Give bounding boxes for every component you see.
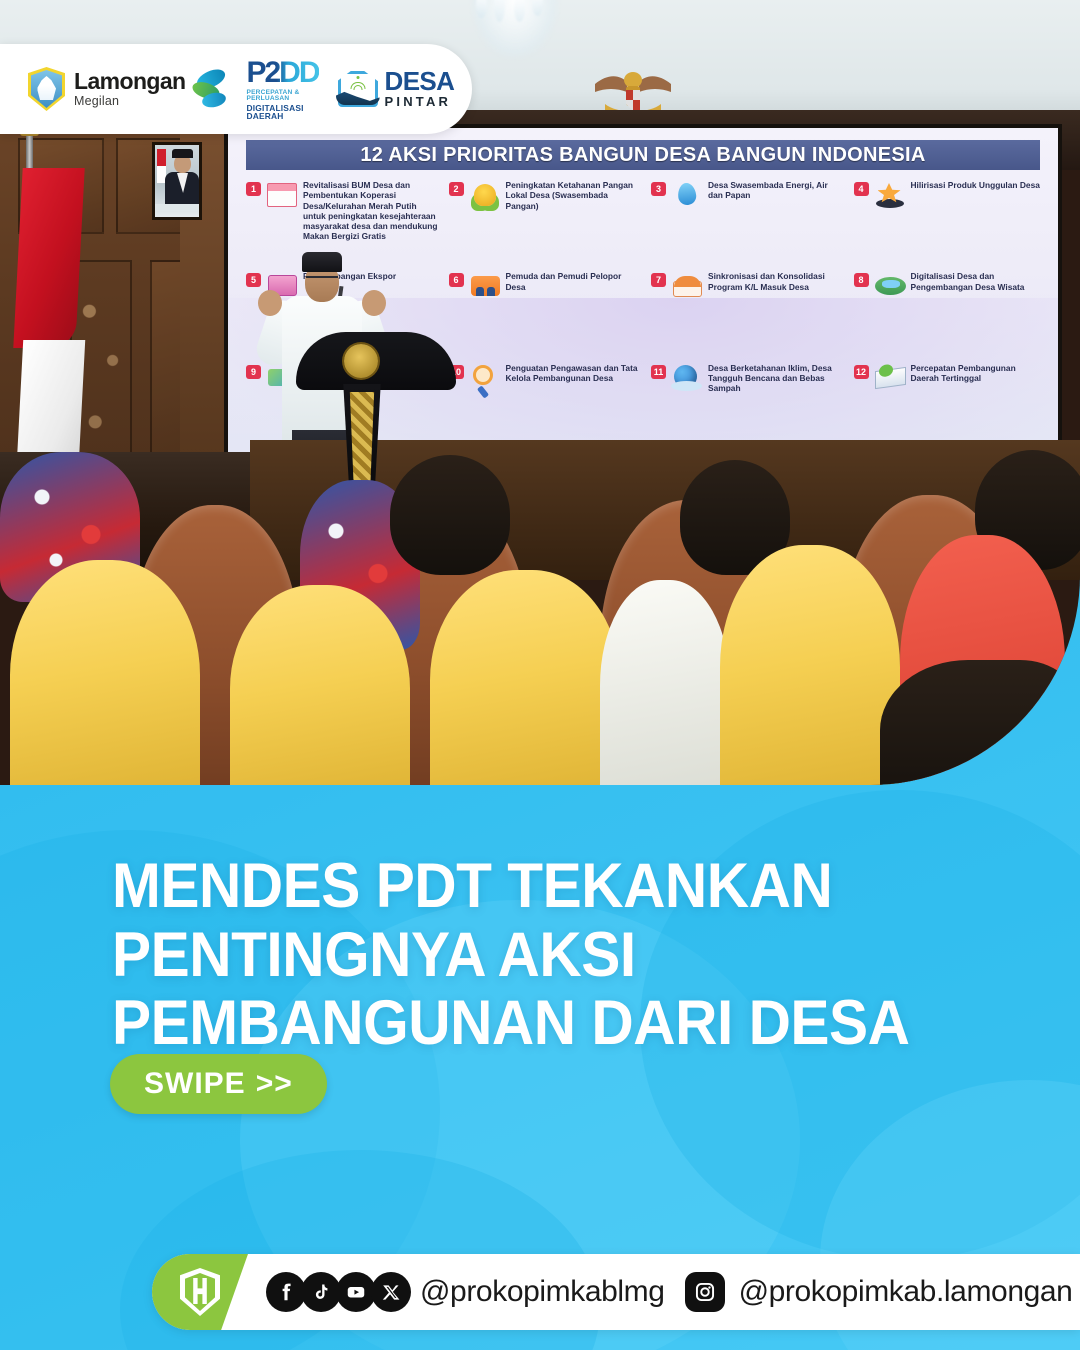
- audience-head: [390, 455, 510, 575]
- slide-action-item: 8 Digitalisasi Desa dan Pengembangan Des…: [850, 269, 1049, 358]
- action-number: 3: [651, 182, 666, 196]
- action-number: 1: [246, 182, 261, 196]
- headline-line-3: PEMBANGUNAN DARI DESA: [112, 989, 903, 1058]
- p2dd-acronym: P2DD: [246, 58, 318, 88]
- slide-title: 12 AKSI PRIORITAS BANGUN DESA BANGUN IND…: [246, 140, 1040, 170]
- youtube-icon[interactable]: [336, 1272, 376, 1312]
- desa-pintar-line1: DESA: [385, 66, 455, 96]
- indonesian-flag-red: [13, 168, 84, 348]
- action-text: Penguatan Pengawasan dan Tata Kelola Pem…: [506, 363, 642, 384]
- lamongan-logo: Lamongan Megilan: [28, 67, 230, 111]
- headline-line-1: MENDES PDT TEKANKAN: [112, 852, 903, 921]
- slide-action-item: 11 Desa Berketahanan Iklim, Desa Tangguh…: [647, 361, 846, 450]
- audience-head: [880, 660, 1080, 785]
- action-number: 2: [449, 182, 464, 196]
- lamongan-shield-icon: [28, 67, 65, 111]
- lake-village-icon: [873, 271, 907, 301]
- p2dd-subtitle-line1: PERCEPATAN & PERLUASAN: [246, 90, 318, 103]
- desa-pintar-line2: PINTAR: [385, 94, 452, 109]
- action-number: 8: [854, 273, 869, 287]
- audience-hijab: [600, 580, 730, 785]
- audience-hijab: [10, 560, 200, 785]
- audience-hijab: [230, 585, 410, 785]
- action-text: Digitalisasi Desa dan Pengembangan Desa …: [911, 271, 1047, 292]
- slide-action-item: 6 Pemuda dan Pemudi Pelopor Desa: [445, 269, 644, 358]
- action-text: Hilirisasi Produk Unggulan Desa: [911, 180, 1040, 190]
- swipe-label: SWIPE: [144, 1067, 246, 1101]
- chandelier-icon: [470, 0, 560, 60]
- slide-action-item: 1 Revitalisasi BUM Desa dan Pembentukan …: [242, 178, 441, 267]
- slide-action-item: 3 Desa Swasembada Energi, Air dan Papan: [647, 178, 846, 267]
- social-icon-row: [266, 1272, 406, 1312]
- slide-action-item: 7 Sinkronisasi dan Konsolidasi Program K…: [647, 269, 846, 358]
- youth-icon: [468, 271, 502, 301]
- desa-pintar-logo: DESA PINTAR: [335, 67, 455, 111]
- globe-icon: [670, 363, 704, 393]
- podium-garuda-emblem-icon: [344, 344, 378, 378]
- speaker-peci-cap: [302, 252, 342, 272]
- action-number: 9: [246, 365, 261, 379]
- slide-action-item: 4 Hilirisasi Produk Unggulan Desa: [850, 178, 1049, 267]
- poster-canvas: 12 AKSI PRIORITAS BANGUN DESA BANGUN IND…: [0, 0, 1080, 1350]
- p2dd-subtitle-line2: DIGITALISASI DAERAH: [246, 104, 318, 121]
- book-growth-icon: [873, 363, 907, 393]
- action-number: 4: [854, 182, 869, 196]
- slide-action-item: 2 Peningkatan Ketahanan Pangan Lokal Des…: [445, 178, 644, 267]
- x-twitter-icon[interactable]: [371, 1272, 411, 1312]
- magnifier-icon: [468, 363, 502, 393]
- action-text: Desa Swasembada Energi, Air dan Papan: [708, 180, 844, 201]
- action-number: 7: [651, 273, 666, 287]
- action-number: 11: [651, 365, 666, 379]
- tiktok-icon[interactable]: [301, 1272, 341, 1312]
- village-house-icon: [670, 271, 704, 301]
- p2dd-logo: P2DD PERCEPATAN & PERLUASAN DIGITALISASI…: [246, 58, 318, 121]
- action-text: Peningkatan Ketahanan Pangan Lokal Desa …: [506, 180, 642, 211]
- action-text: Desa Berketahanan Iklim, Desa Tangguh Be…: [708, 363, 844, 394]
- headline-line-2: PENTINGNYA AKSI: [112, 921, 903, 990]
- lamongan-swirl-icon: [190, 67, 230, 111]
- water-drop-icon: [670, 180, 704, 210]
- audience-hijab: [430, 570, 620, 785]
- swipe-arrows-icon: >>: [256, 1067, 293, 1101]
- action-text: Pemuda dan Pemudi Pelopor Desa: [506, 271, 642, 292]
- slide-action-item: 12 Percepatan Pembangunan Daerah Terting…: [850, 361, 1049, 450]
- slide-action-item: 10 Penguatan Pengawasan dan Tata Kelola …: [445, 361, 644, 450]
- shop-icon: [265, 180, 299, 210]
- social-footer: @prokopimkablmg @prokopimkab.lamongan: [152, 1254, 1080, 1330]
- action-text: Percepatan Pembangunan Daerah Tertinggal: [911, 363, 1047, 384]
- lamongan-name: Lamongan: [74, 68, 185, 94]
- action-text: Revitalisasi BUM Desa dan Pembentukan Ko…: [303, 180, 439, 242]
- speaker-glasses: [306, 276, 338, 284]
- action-number: 5: [246, 273, 261, 287]
- audience-hijab: [720, 545, 900, 785]
- corn-icon: [468, 180, 502, 210]
- lamongan-tagline: Megilan: [74, 94, 119, 108]
- swipe-button[interactable]: SWIPE >>: [110, 1054, 327, 1114]
- house-wifi-icon: [335, 67, 381, 111]
- action-text: Sinkronisasi dan Konsolidasi Program K/L…: [708, 271, 844, 292]
- headline: MENDES PDT TEKANKAN PENTINGNYA AKSI PEMB…: [112, 852, 962, 1058]
- action-number: 12: [854, 365, 869, 379]
- partner-logo-bar: Lamongan Megilan P2DD PERCEPATAN & PERLU…: [0, 44, 472, 134]
- speaker-hand-left: [258, 290, 282, 316]
- handle-primary[interactable]: @prokopimkablmg: [420, 1275, 665, 1309]
- instagram-icon[interactable]: [685, 1272, 725, 1312]
- presidential-portrait: [152, 142, 202, 220]
- lamongan-badge-icon: [152, 1254, 248, 1330]
- action-number: 6: [449, 273, 464, 287]
- star-product-icon: [873, 180, 907, 210]
- facebook-icon[interactable]: [266, 1272, 306, 1312]
- handle-instagram[interactable]: @prokopimkab.lamongan: [739, 1275, 1073, 1309]
- speaker-hand-right: [362, 290, 386, 316]
